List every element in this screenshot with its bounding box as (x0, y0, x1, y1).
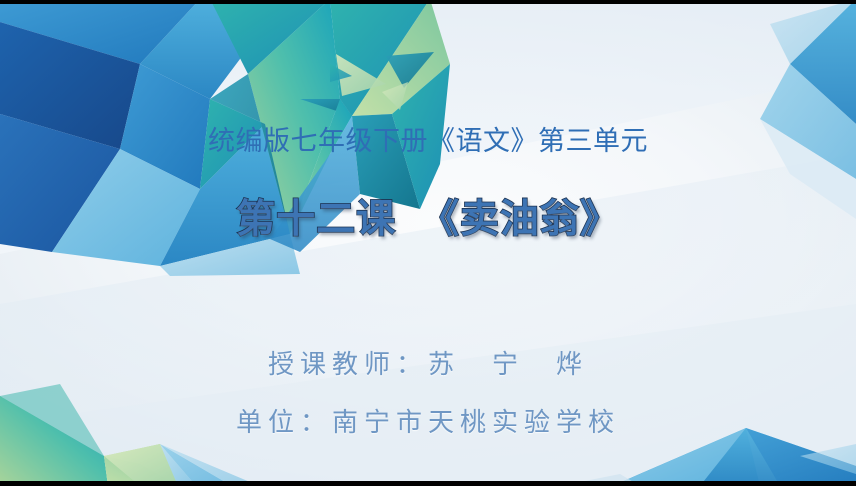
slide-root: 统编版七年级下册《语文》第三单元 第十二课 《卖油翁》 授课教师：苏 宁 烨 单… (0, 0, 856, 486)
slide-text-layer: 统编版七年级下册《语文》第三单元 第十二课 《卖油翁》 授课教师：苏 宁 烨 单… (0, 4, 856, 481)
presenter-teacher-line: 授课教师：苏 宁 烨 (0, 348, 856, 382)
presenter-unit-line: 单位：南宁市天桃实验学校 (0, 406, 856, 440)
letterbox-bar-bottom (0, 481, 856, 486)
slide-subtitle: 统编版七年级下册《语文》第三单元 (0, 124, 856, 158)
letterbox-bar-top (0, 0, 856, 4)
slide-canvas: 统编版七年级下册《语文》第三单元 第十二课 《卖油翁》 授课教师：苏 宁 烨 单… (0, 4, 856, 481)
slide-title: 第十二课 《卖油翁》 (0, 194, 856, 246)
